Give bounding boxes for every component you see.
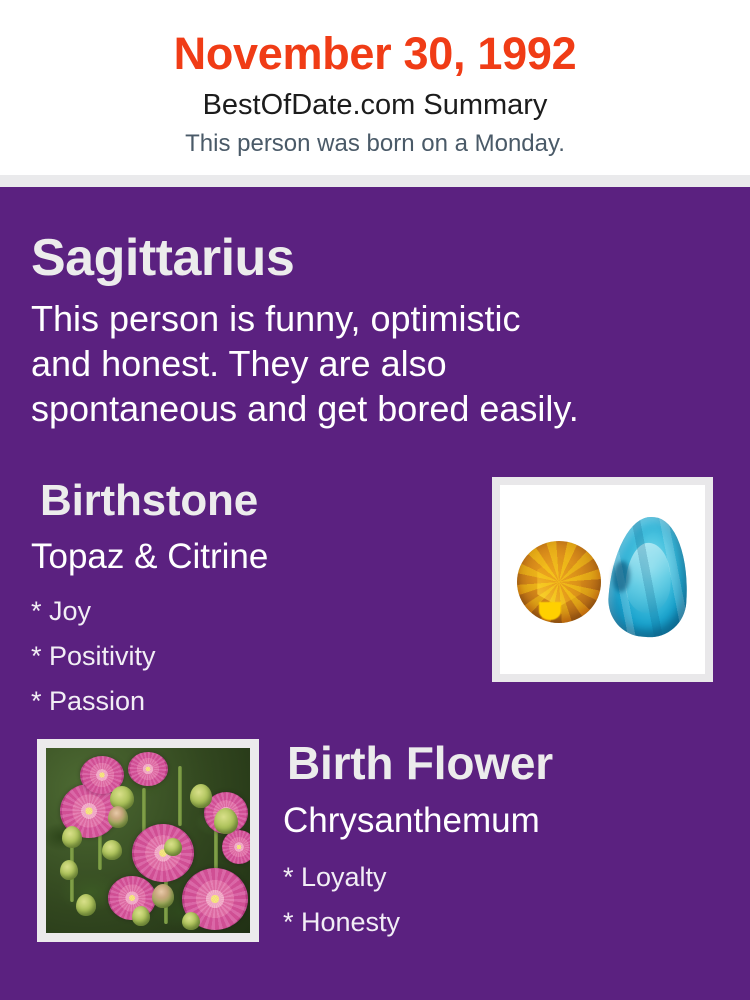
flower-bud: [102, 840, 122, 860]
flower-bud: [214, 808, 238, 834]
flower-stem: [178, 766, 182, 826]
chrysanthemum-bloom: [128, 752, 168, 786]
born-day-note: This person was born on a Monday.: [0, 128, 750, 160]
birthflower-traits-list: * Loyalty * Honesty: [283, 855, 683, 945]
page-title-date: November 30, 1992: [0, 26, 750, 82]
birthstone-traits-list: * Joy * Positivity * Passion: [31, 589, 451, 724]
blue-topaz-gem-icon: [606, 514, 692, 639]
zodiac-sign-title: Sagittarius: [31, 228, 294, 288]
zodiac-description-line: This person is funny, optimistic: [31, 296, 731, 341]
zodiac-description-line: spontaneous and get bored easily.: [31, 386, 731, 431]
header-divider: [0, 175, 750, 187]
topaz-facets: [606, 514, 692, 639]
zodiac-description: This person is funny, optimistic and hon…: [31, 296, 731, 431]
citrine-gem-icon: [517, 541, 601, 623]
header: November 30, 1992 BestOfDate.com Summary…: [0, 0, 750, 175]
birthflower-image: [37, 739, 259, 942]
flower-bud: [164, 838, 182, 856]
flower-bud: [60, 860, 78, 880]
birthflower-title: Birth Flower: [287, 735, 553, 791]
birthflower-image-inner: [46, 748, 250, 933]
list-item: * Passion: [31, 679, 451, 724]
chrysanthemum-bloom: [222, 830, 250, 864]
birthstone-title: Birthstone: [40, 474, 258, 528]
birthflower-name: Chrysanthemum: [283, 799, 540, 843]
chrysanthemum-bloom: [132, 824, 194, 882]
site-summary-label: BestOfDate.com Summary: [0, 87, 750, 123]
list-item: * Positivity: [31, 634, 451, 679]
birthstone-image-inner: [500, 485, 705, 674]
birthstone-name: Topaz & Citrine: [31, 535, 268, 579]
birthstone-image: [492, 477, 713, 682]
summary-body: Sagittarius This person is funny, optimi…: [0, 187, 750, 1000]
list-item: * Loyalty: [283, 855, 683, 900]
flower-bud: [182, 912, 200, 930]
flower-bud: [76, 894, 96, 916]
flower-bud: [190, 784, 212, 808]
date-summary-card: November 30, 1992 BestOfDate.com Summary…: [0, 0, 750, 1000]
flower-bud: [132, 906, 150, 926]
flower-bud: [108, 806, 128, 828]
flower-bud: [62, 826, 82, 848]
list-item: * Joy: [31, 589, 451, 634]
list-item: * Honesty: [283, 900, 683, 945]
flower-bud: [152, 884, 174, 908]
zodiac-description-line: and honest. They are also: [31, 341, 731, 386]
citrine-facets: [517, 541, 601, 623]
